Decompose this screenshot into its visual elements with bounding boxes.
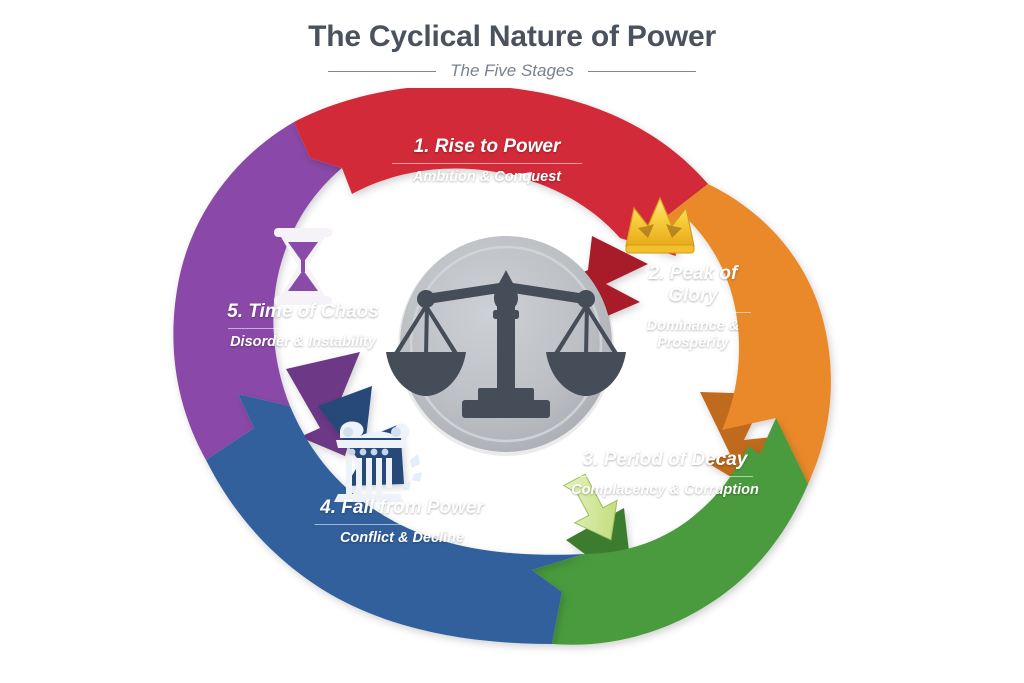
segment-stage-3-body <box>532 418 808 645</box>
cycle-ring-graphic <box>0 88 1024 683</box>
subtitle-row: The Five Stages <box>0 61 1024 81</box>
hourglass-icon <box>274 228 332 305</box>
segment-stage-3[interactable] <box>532 418 808 645</box>
page-subtitle: The Five Stages <box>450 61 574 81</box>
page-title: The Cyclical Nature of Power <box>0 0 1024 53</box>
subtitle-rule-left <box>328 71 436 72</box>
trending-up-arrow-icon <box>440 172 532 231</box>
broken-column-icon <box>334 421 422 502</box>
header: The Cyclical Nature of Power The Five St… <box>0 0 1024 92</box>
cycle-diagram: 1. Rise to Power Ambition & Conquest 2. … <box>0 88 1024 683</box>
subtitle-rule-right <box>588 71 696 72</box>
